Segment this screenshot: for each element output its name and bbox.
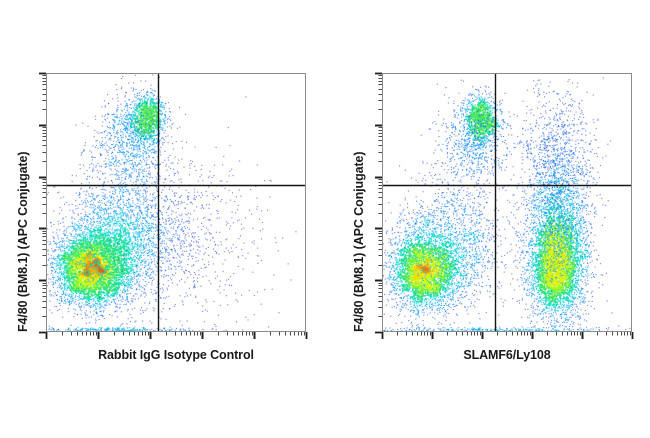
- flow-cytometry-figure: F4/80 (BM8.1) (APC Conjugate) Rabbit IgG…: [0, 0, 650, 438]
- scatter-plot-isotype-control: [20, 47, 332, 358]
- y-axis-label-left: F4/80 (BM8.1) (APC Conjugate): [16, 152, 30, 332]
- panel-slamf6: F4/80 (BM8.1) (APC Conjugate) SLAMF6/Ly1…: [330, 0, 650, 438]
- y-axis-label-right: F4/80 (BM8.1) (APC Conjugate): [352, 152, 366, 332]
- scatter-plot-slamf6: [356, 47, 650, 358]
- x-axis-label-left: Rabbit IgG Isotype Control: [46, 348, 306, 362]
- panel-isotype-control: F4/80 (BM8.1) (APC Conjugate) Rabbit IgG…: [0, 0, 330, 438]
- x-axis-label-right: SLAMF6/Ly108: [382, 348, 632, 362]
